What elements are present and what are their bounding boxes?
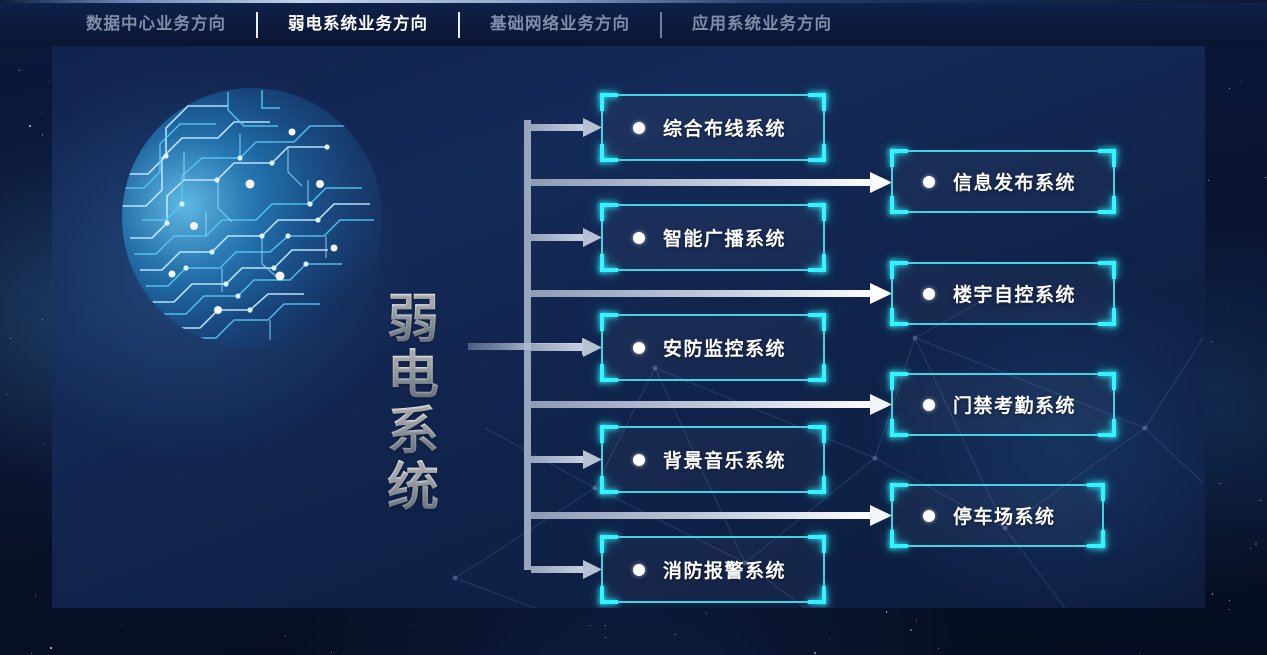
title-char-4: 统	[377, 460, 449, 516]
diagram-panel: 弱 电 系 统	[52, 46, 1205, 608]
bullet-dot-icon	[923, 510, 935, 522]
arrow-right-1	[531, 172, 892, 193]
corner-bracket-icon	[1098, 196, 1116, 214]
corner-bracket-icon	[600, 93, 618, 111]
corner-bracket-icon	[600, 535, 618, 553]
corner-bracket-icon	[808, 425, 826, 443]
corner-bracket-icon	[890, 149, 908, 167]
corner-bracket-icon	[600, 476, 618, 494]
corner-bracket-icon	[1087, 483, 1105, 501]
system-box-label: 楼宇自控系统	[953, 280, 1076, 307]
system-box-intelligent-broadcast[interactable]: 智能广播系统	[601, 204, 825, 271]
nav-tab-list: 数据中心业务方向 弱电系统业务方向 基础网络业务方向 应用系统业务方向	[56, 3, 862, 46]
corner-bracket-icon	[1098, 372, 1116, 390]
corner-bracket-icon	[600, 586, 618, 604]
corner-bracket-icon	[1098, 261, 1116, 279]
system-box-security-monitoring[interactable]: 安防监控系统	[601, 314, 825, 381]
corner-bracket-icon	[600, 425, 618, 443]
corner-bracket-icon	[890, 372, 908, 390]
corner-bracket-icon	[808, 254, 826, 272]
bullet-dot-icon	[633, 122, 645, 134]
arrow-right-3	[531, 394, 892, 415]
system-box-parking-lot[interactable]: 停车场系统	[891, 484, 1104, 547]
arrow-left-3	[531, 338, 602, 357]
system-box-label: 门禁考勤系统	[953, 391, 1076, 418]
corner-bracket-icon	[890, 261, 908, 279]
system-box-label: 安防监控系统	[663, 334, 786, 361]
corner-bracket-icon	[808, 93, 826, 111]
arrow-left-4	[531, 450, 602, 469]
arrow-left-5	[531, 560, 602, 579]
bullet-dot-icon	[923, 176, 935, 188]
system-box-building-automation[interactable]: 楼宇自控系统	[891, 262, 1115, 325]
arrow-right-4	[531, 505, 892, 526]
system-box-label: 背景音乐系统	[663, 446, 786, 473]
tab-low-voltage-system[interactable]: 弱电系统业务方向	[258, 3, 458, 46]
corner-bracket-icon	[808, 476, 826, 494]
system-box-label: 信息发布系统	[953, 168, 1076, 195]
bullet-dot-icon	[633, 454, 645, 466]
corner-bracket-icon	[808, 364, 826, 382]
corner-bracket-icon	[890, 530, 908, 548]
arrow-left-1	[531, 118, 602, 137]
system-box-label: 停车场系统	[953, 502, 1056, 529]
corner-bracket-icon	[1087, 530, 1105, 548]
corner-bracket-icon	[890, 419, 908, 437]
bullet-dot-icon	[633, 232, 645, 244]
system-box-information-release[interactable]: 信息发布系统	[891, 150, 1115, 213]
corner-bracket-icon	[808, 203, 826, 221]
system-box-fire-alarm[interactable]: 消防报警系统	[601, 536, 825, 603]
bullet-dot-icon	[633, 342, 645, 354]
title-char-1: 弱	[377, 292, 449, 348]
corner-bracket-icon	[808, 535, 826, 553]
tab-basic-network[interactable]: 基础网络业务方向	[460, 3, 660, 46]
corner-bracket-icon	[600, 144, 618, 162]
corner-bracket-icon	[1098, 308, 1116, 326]
system-box-label: 消防报警系统	[663, 556, 786, 583]
corner-bracket-icon	[1098, 149, 1116, 167]
tab-data-center[interactable]: 数据中心业务方向	[56, 3, 256, 46]
corner-bracket-icon	[890, 196, 908, 214]
title-char-3: 系	[377, 404, 449, 460]
bullet-dot-icon	[923, 288, 935, 300]
slide-canvas: 数据中心业务方向 弱电系统业务方向 基础网络业务方向 应用系统业务方向	[0, 0, 1267, 655]
system-box-label: 智能广播系统	[663, 224, 786, 251]
system-box-comprehensive-cabling[interactable]: 综合布线系统	[601, 94, 825, 161]
tab-application-system[interactable]: 应用系统业务方向	[662, 3, 862, 46]
corner-bracket-icon	[600, 203, 618, 221]
page-title-vertical: 弱 电 系 统	[377, 292, 449, 517]
corner-bracket-icon	[1098, 419, 1116, 437]
corner-bracket-icon	[808, 313, 826, 331]
system-box-label: 综合布线系统	[663, 114, 786, 141]
title-char-2: 电	[377, 348, 449, 404]
corner-bracket-icon	[890, 483, 908, 501]
arrow-right-2	[531, 283, 892, 304]
bullet-dot-icon	[923, 399, 935, 411]
arrow-left-2	[531, 228, 602, 247]
corner-bracket-icon	[600, 364, 618, 382]
top-nav-bar: 数据中心业务方向 弱电系统业务方向 基础网络业务方向 应用系统业务方向	[0, 0, 1267, 46]
corner-bracket-icon	[808, 586, 826, 604]
corner-bracket-icon	[600, 254, 618, 272]
system-box-access-attendance[interactable]: 门禁考勤系统	[891, 373, 1115, 436]
corner-bracket-icon	[600, 313, 618, 331]
corner-bracket-icon	[890, 308, 908, 326]
bullet-dot-icon	[633, 564, 645, 576]
corner-bracket-icon	[808, 144, 826, 162]
system-box-background-music[interactable]: 背景音乐系统	[601, 426, 825, 493]
